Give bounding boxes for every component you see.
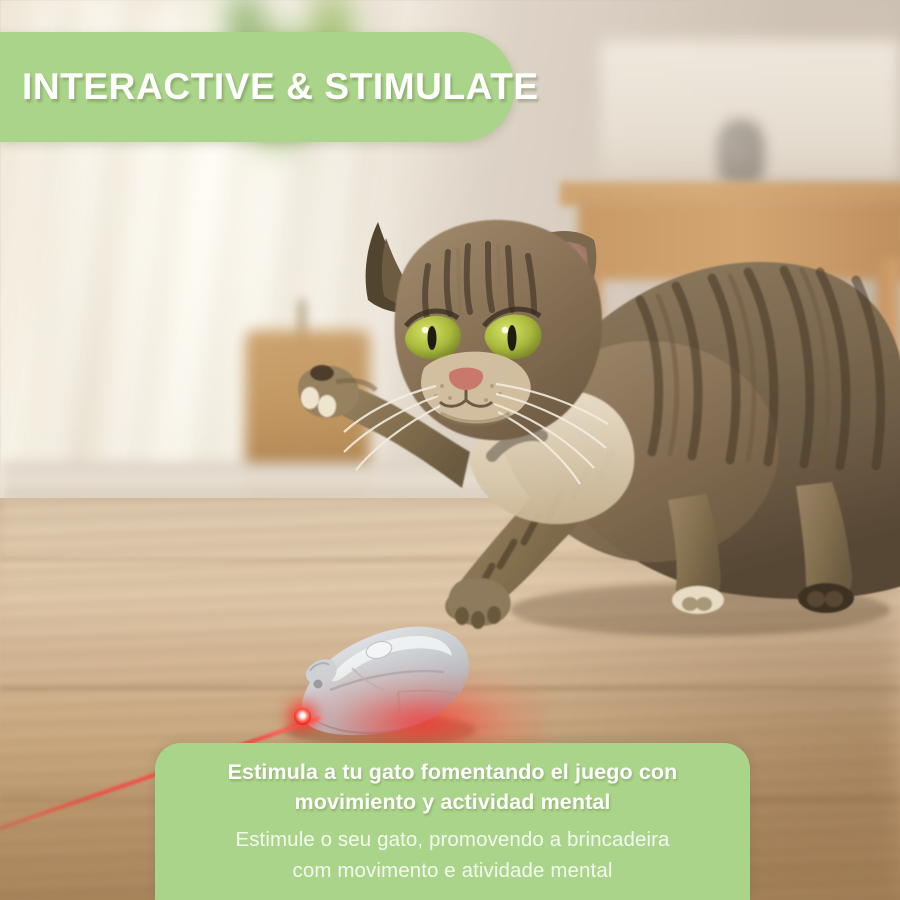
headline-banner: INTERACTIVE & STIMULATE: [0, 32, 515, 142]
caption-spanish-line-2: movimiento y actividad mental: [155, 787, 750, 817]
laser-mouse-toy: [284, 627, 476, 746]
caption-spanish: Estimula a tu gato fomentando el juego c…: [155, 743, 750, 817]
product-poster: INTERACTIVE & STIMULATE Estimula a tu ga…: [0, 0, 900, 900]
caption-portuguese: Estimule o seu gato, promovendo a brinca…: [155, 817, 750, 886]
laser-led-dot: [294, 708, 311, 725]
caption-banner: Estimula a tu gato fomentando el juego c…: [155, 743, 750, 900]
caption-spanish-line-1: Estimula a tu gato fomentando el juego c…: [155, 757, 750, 787]
caption-portuguese-line-2: com movimento e atividade mental: [155, 855, 750, 886]
headline-text: INTERACTIVE & STIMULATE: [22, 66, 539, 108]
caption-portuguese-line-1: Estimule o seu gato, promovendo a brinca…: [155, 824, 750, 855]
